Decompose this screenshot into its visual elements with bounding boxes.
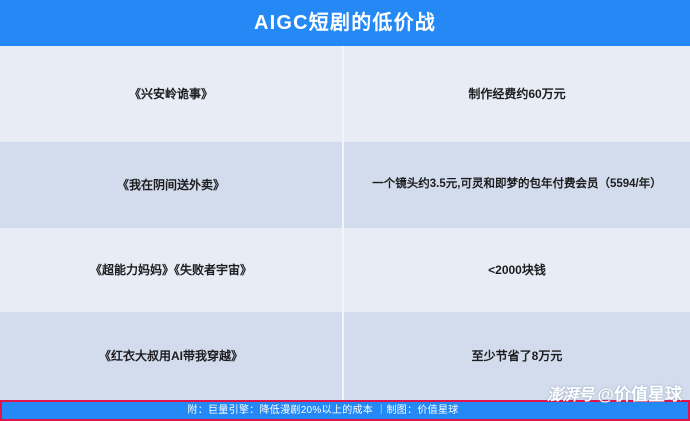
table-row: 《红衣大叔用AI带我穿越》 至少节省了8万元 (0, 312, 690, 400)
table-cell-value: 制作经费约60万元 (344, 46, 690, 142)
table-row: 《兴安岭诡事》 制作经费约60万元 (0, 46, 690, 142)
table-cell-title: 《红衣大叔用AI带我穿越》 (0, 312, 344, 400)
table-cell-value: 至少节省了8万元 (344, 312, 690, 400)
comparison-table: 《兴安岭诡事》 制作经费约60万元 《我在阴间送外卖》 一个镜头约3.5元,可灵… (0, 46, 690, 400)
table-row: 《超能力妈妈》《失败者宇宙》 <2000块钱 (0, 228, 690, 312)
page-title: AIGC短剧的低价战 (254, 13, 436, 33)
infographic-card: AIGC短剧的低价战 《兴安岭诡事》 制作经费约60万元 《我在阴间送外卖》 一… (0, 0, 690, 421)
table-cell-title: 《兴安岭诡事》 (0, 46, 344, 142)
table-cell-title: 《超能力妈妈》《失败者宇宙》 (0, 228, 344, 312)
table-cell-title: 《我在阴间送外卖》 (0, 142, 344, 228)
table-cell-value: 一个镜头约3.5元,可灵和即梦的包年付费会员（5594/年） (344, 142, 690, 228)
footer-note: 附：巨量引擎：降低漫剧20%以上的成本 ｜制图：价值星球 (187, 406, 458, 416)
footer-bar: 附：巨量引擎：降低漫剧20%以上的成本 ｜制图：价值星球 (0, 400, 690, 421)
header-bar: AIGC短剧的低价战 (0, 0, 690, 46)
table-row: 《我在阴间送外卖》 一个镜头约3.5元,可灵和即梦的包年付费会员（5594/年） (0, 142, 690, 228)
table-cell-value: <2000块钱 (344, 228, 690, 312)
